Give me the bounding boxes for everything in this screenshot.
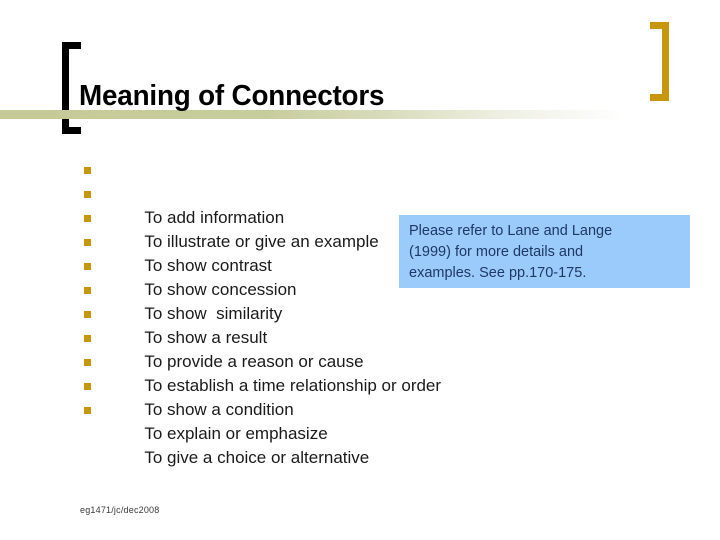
callout-line-3: examples. See pp.170-175.	[409, 263, 680, 284]
decorative-bracket-right-icon	[650, 22, 669, 101]
callout-line-2: (1999) for more details and	[409, 242, 680, 263]
bullet-square-icon	[84, 287, 91, 294]
bullet-square-icon	[84, 239, 91, 246]
bullet-square-icon	[84, 335, 91, 342]
callout-line-1: Please refer to Lane and Lange	[409, 221, 680, 242]
bullet-square-icon	[84, 311, 91, 318]
list-item: To add information	[84, 158, 644, 182]
bullet-square-icon	[84, 191, 91, 198]
list-item-label: To give a choice or alternative	[144, 446, 369, 470]
bullet-square-icon	[84, 383, 91, 390]
slide-footer-note: eg1471/jc/dec2008	[80, 505, 159, 515]
list-item: To provide a reason or cause	[84, 302, 644, 326]
list-item: To establish a time relationship or orde…	[84, 326, 644, 350]
list-item: To illustrate or give an example	[84, 182, 644, 206]
bullet-square-icon	[84, 263, 91, 270]
list-item: To show a condition	[84, 350, 644, 374]
bullet-square-icon	[84, 359, 91, 366]
list-item-label: To explain or emphasize	[144, 422, 327, 446]
bullet-square-icon	[84, 407, 91, 414]
list-item: To give a choice or alternative	[84, 398, 644, 422]
slide-canvas: Meaning of Connectors To add information…	[0, 0, 720, 540]
bullet-square-icon	[84, 215, 91, 222]
page-title: Meaning of Connectors	[79, 80, 384, 113]
bullet-list: To add information To illustrate or give…	[84, 158, 644, 422]
bullet-square-icon	[84, 167, 91, 174]
reference-callout-box: Please refer to Lane and Lange (1999) fo…	[399, 215, 690, 288]
list-item: To explain or emphasize	[84, 374, 644, 398]
